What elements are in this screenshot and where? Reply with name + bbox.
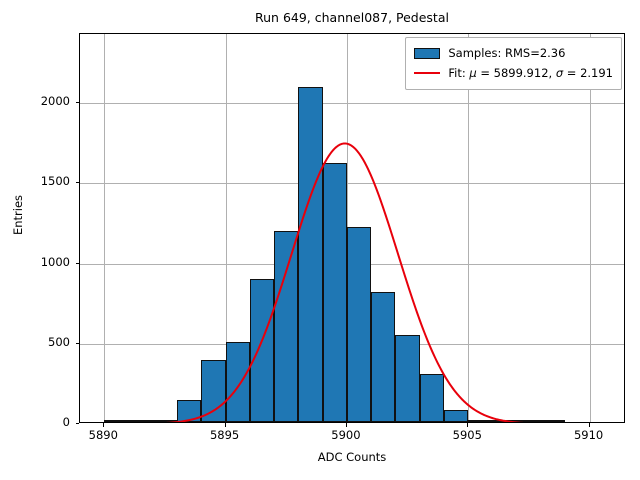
plot-area — [79, 33, 625, 423]
x-tick-label: 5905 — [432, 428, 502, 442]
x-tick-mark — [346, 423, 347, 427]
legend-label-samples: Samples: RMS=2.36 — [448, 46, 565, 60]
x-tick-label: 5910 — [554, 428, 624, 442]
x-tick-mark — [467, 423, 468, 427]
legend-item-fit: Fit: μ = 5899.912, σ = 2.191 — [414, 63, 613, 83]
x-axis-label: ADC Counts — [79, 450, 625, 464]
y-tick-label: 0 — [10, 415, 70, 429]
y-tick-mark — [76, 102, 80, 103]
page-title: Run 649, channel087, Pedestal — [79, 10, 625, 25]
y-tick-mark — [76, 343, 80, 344]
legend-item-samples: Samples: RMS=2.36 — [414, 43, 613, 63]
x-tick-label: 5900 — [311, 428, 381, 442]
y-tick-label: 500 — [10, 335, 70, 349]
x-tick-label: 5890 — [68, 428, 138, 442]
y-tick-mark — [76, 423, 80, 424]
legend-label-fit: Fit: μ = 5899.912, σ = 2.191 — [448, 66, 613, 80]
y-tick-mark — [76, 263, 80, 264]
legend-line-swatch-icon — [414, 72, 440, 74]
legend: Samples: RMS=2.36 Fit: μ = 5899.912, σ =… — [405, 37, 622, 90]
y-axis-label: Entries — [11, 135, 25, 295]
gaussian-fit-curve — [80, 34, 625, 423]
y-tick-mark — [76, 182, 80, 183]
y-tick-label: 2000 — [10, 94, 70, 108]
figure-canvas: Run 649, channel087, Pedestal 5890589559… — [0, 0, 640, 480]
x-tick-mark — [589, 423, 590, 427]
legend-patch-swatch-icon — [414, 48, 440, 59]
x-tick-mark — [225, 423, 226, 427]
x-tick-mark — [103, 423, 104, 427]
x-tick-label: 5895 — [190, 428, 260, 442]
